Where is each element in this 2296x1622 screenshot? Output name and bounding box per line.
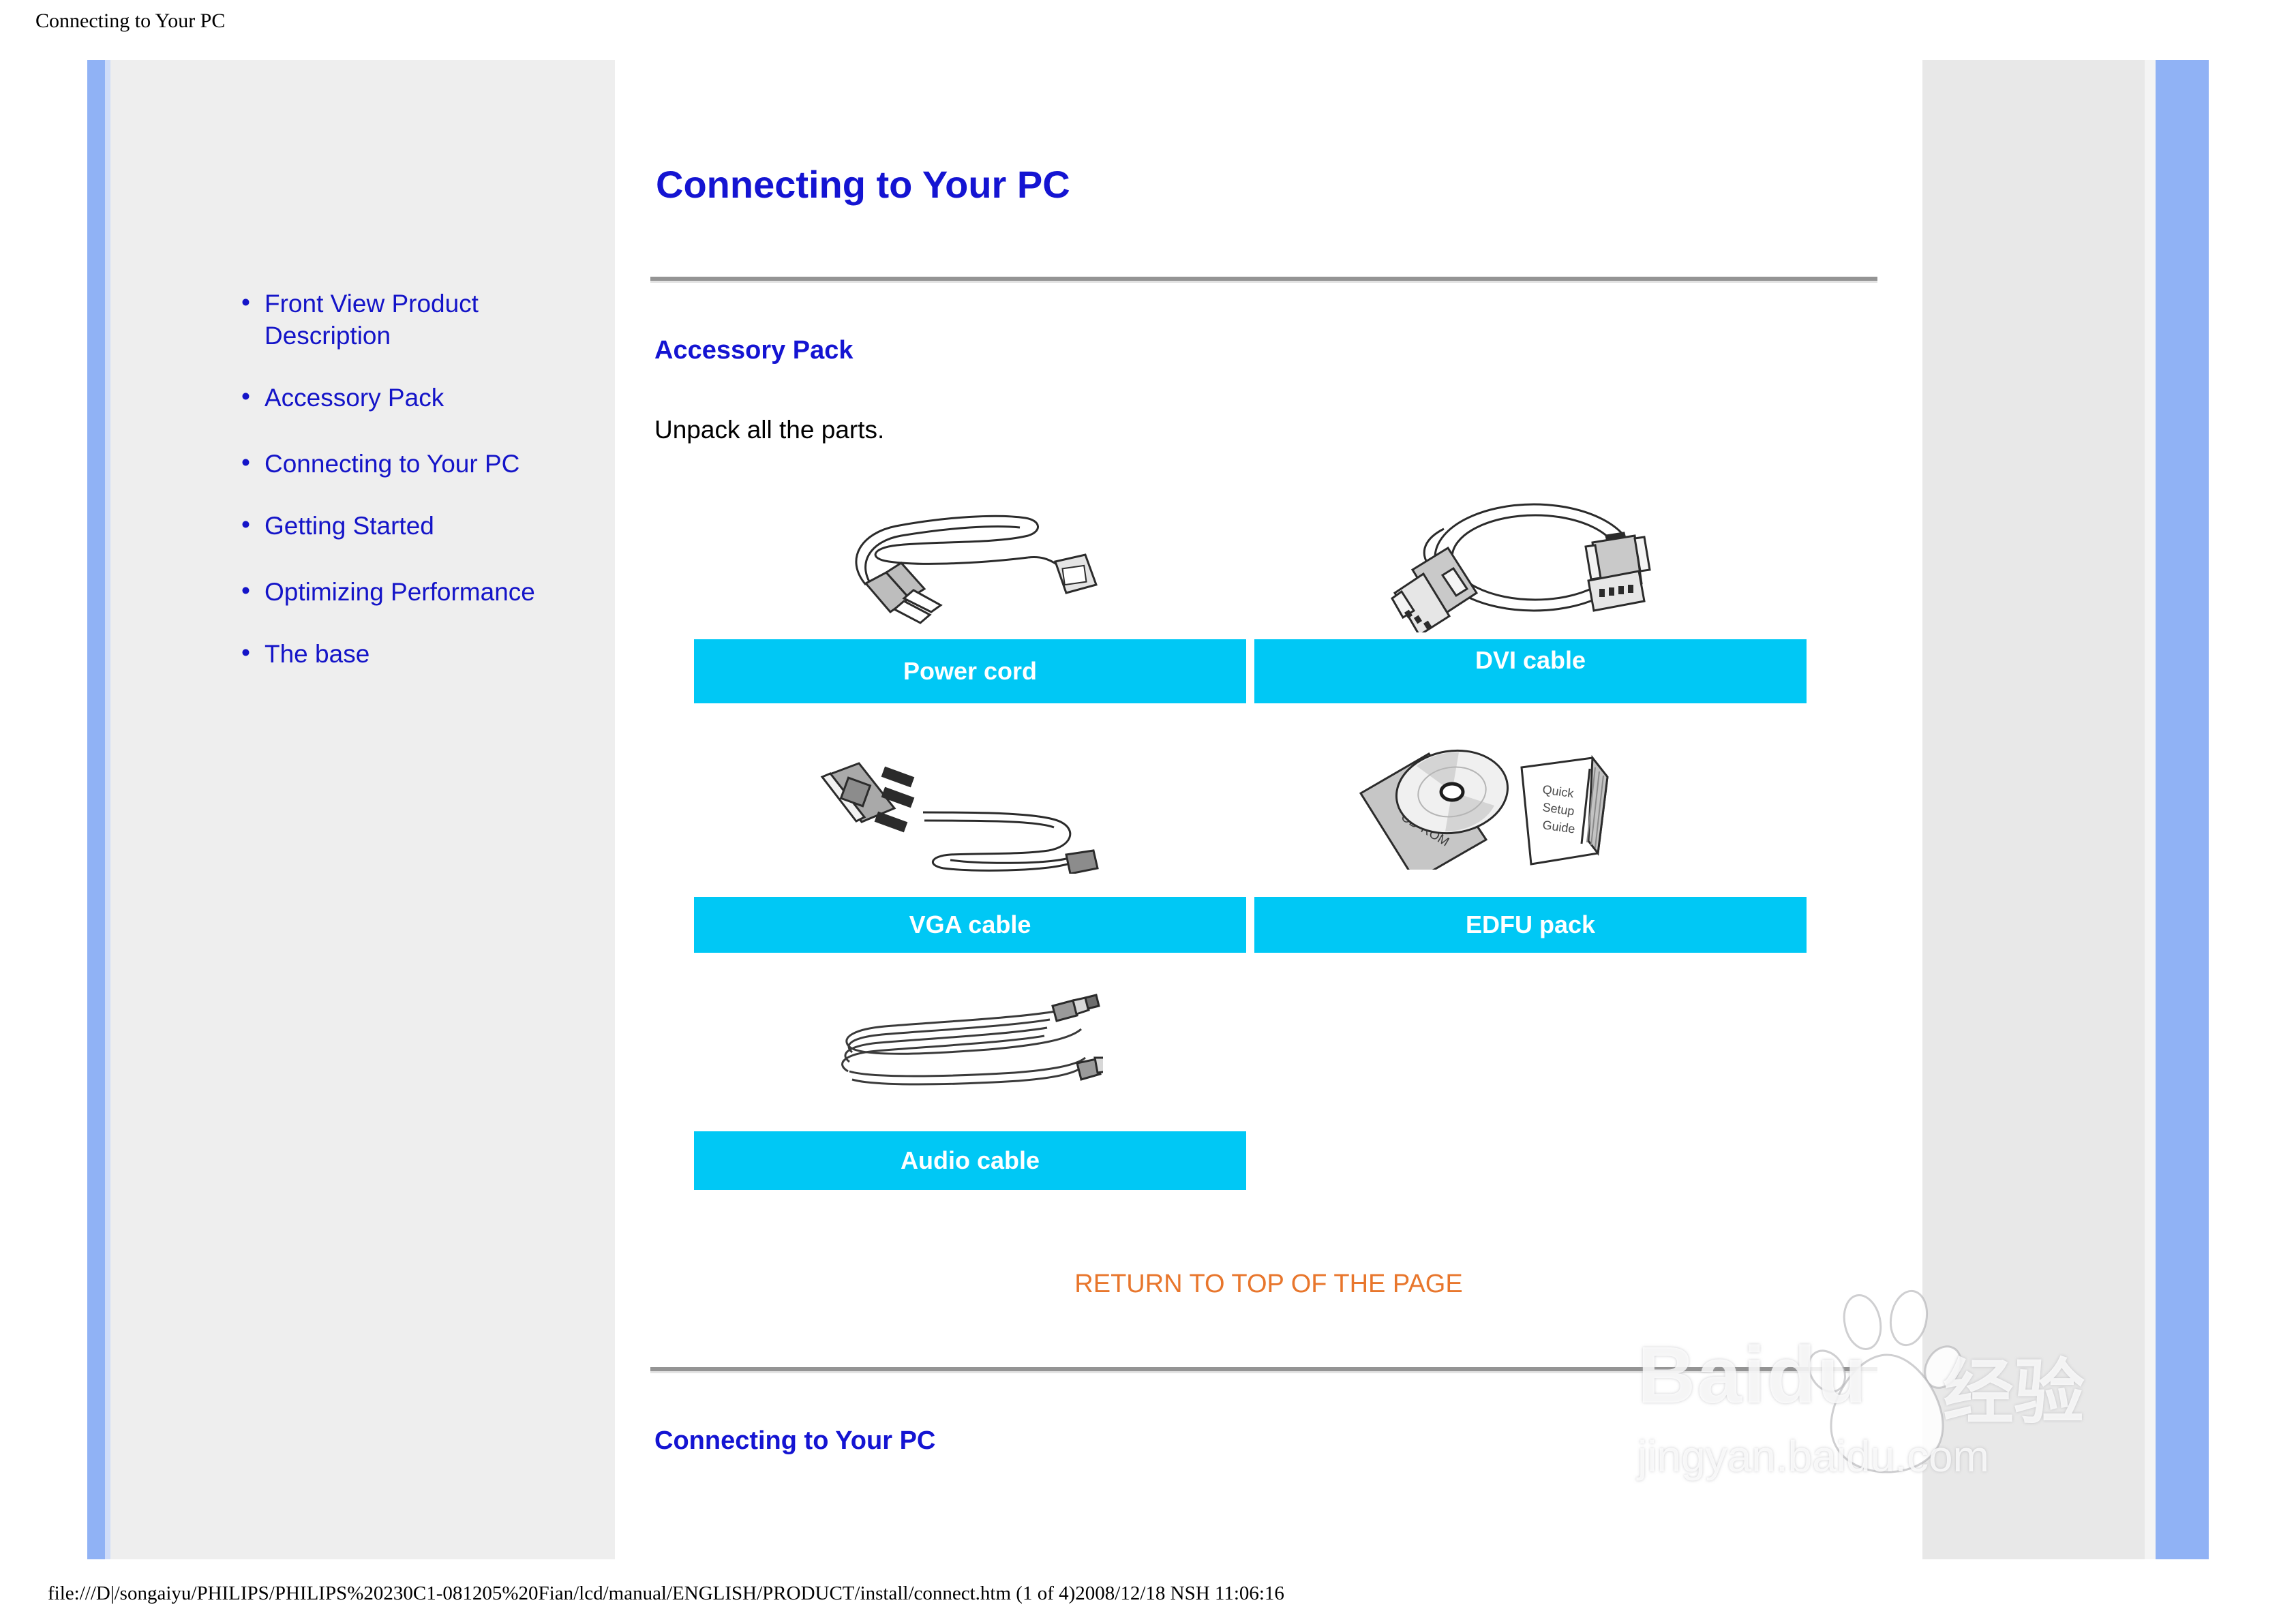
accessory-row: Audio cable (694, 961, 1835, 1165)
page-frame: • Front View Product Description • Acces… (87, 60, 1922, 1559)
sidebar-item-label: The base (265, 640, 369, 668)
nav-spacer (236, 614, 597, 639)
accessory-label-vga-cable: VGA cable (694, 897, 1246, 953)
footer-url-text: file:///D|/songaiyu/PHILIPS/PHILIPS%2023… (48, 1582, 1284, 1605)
nav-spacer (236, 358, 597, 382)
return-to-top-link[interactable]: RETURN TO TOP OF THE PAGE (615, 1270, 1922, 1299)
sidebar-item-the-base[interactable]: • The base (236, 639, 597, 671)
divider-bottom (650, 1367, 1877, 1373)
sidebar-item-front-view-product-description[interactable]: • Front View Product Description (236, 288, 597, 352)
nav-spacer (236, 420, 597, 448)
sidebar-item-accessory-pack[interactable]: • Accessory Pack (236, 382, 597, 414)
dvi-cable-illustration (1254, 489, 1807, 639)
accessory-label-edfu-pack: EDFU pack (1254, 897, 1807, 953)
accessory-grid: Power cord (694, 489, 1835, 1165)
accessory-row: VGA cable CD-ROM (694, 721, 1835, 961)
sidebar-item-getting-started[interactable]: • Getting Started (236, 510, 597, 542)
sidebar-item-label: Optimizing Performance (265, 578, 535, 606)
nav-spacer (236, 486, 597, 510)
sidebar-nav-list: • Front View Product Description • Acces… (236, 288, 597, 676)
accessory-label-dvi-cable: DVI cable (1254, 639, 1807, 703)
sidebar-item-connecting-to-your-pc[interactable]: • Connecting to Your PC (236, 448, 597, 480)
left-rail-highlight (105, 60, 110, 1559)
sidebar-item-label: Accessory Pack (265, 384, 444, 412)
vga-cable-illustration (694, 721, 1246, 897)
bullet-icon: • (241, 381, 250, 413)
sidebar: • Front View Product Description • Acces… (110, 60, 615, 1559)
nav-spacer (236, 548, 597, 577)
bullet-icon: • (241, 447, 250, 479)
accessory-cell-power-cord: Power cord (694, 489, 1246, 703)
audio-cable-illustration (694, 961, 1246, 1131)
right-blue-rail (2156, 60, 2209, 1559)
unpack-instruction: Unpack all the parts. (654, 416, 884, 444)
accessory-cell-edfu-pack: CD-ROM (1254, 721, 1807, 953)
accessory-label-audio-cable: Audio cable (694, 1131, 1246, 1190)
accessory-cell-dvi-cable: DVI cable (1254, 489, 1807, 703)
bullet-icon: • (241, 637, 250, 669)
print-header-title: Connecting to Your PC (35, 10, 225, 33)
bullet-icon: • (241, 575, 250, 607)
page-title: Connecting to Your PC (656, 162, 1070, 206)
accessory-label-power-cord: Power cord (694, 639, 1246, 703)
bullet-icon: • (241, 287, 250, 319)
left-blue-rail (87, 60, 105, 1559)
divider-top (650, 277, 1877, 283)
power-cord-illustration (694, 489, 1246, 639)
sidebar-item-label: Connecting to Your PC (265, 450, 519, 478)
accessory-cell-vga-cable: VGA cable (694, 721, 1246, 953)
right-gray-highlight (2145, 60, 2156, 1559)
bullet-icon: • (241, 509, 250, 541)
sidebar-item-optimizing-performance[interactable]: • Optimizing Performance (236, 577, 597, 609)
edfu-pack-illustration: CD-ROM (1254, 721, 1807, 897)
connecting-to-pc-heading: Connecting to Your PC (654, 1426, 935, 1456)
content-pane: Connecting to Your PC Accessory Pack Unp… (615, 60, 1922, 1559)
accessory-pack-heading: Accessory Pack (654, 336, 854, 365)
sidebar-item-label: Getting Started (265, 512, 434, 540)
sidebar-item-label: Front View Product Description (265, 290, 479, 350)
accessory-cell-audio-cable: Audio cable (694, 961, 1246, 1190)
accessory-row: Power cord (694, 489, 1835, 721)
